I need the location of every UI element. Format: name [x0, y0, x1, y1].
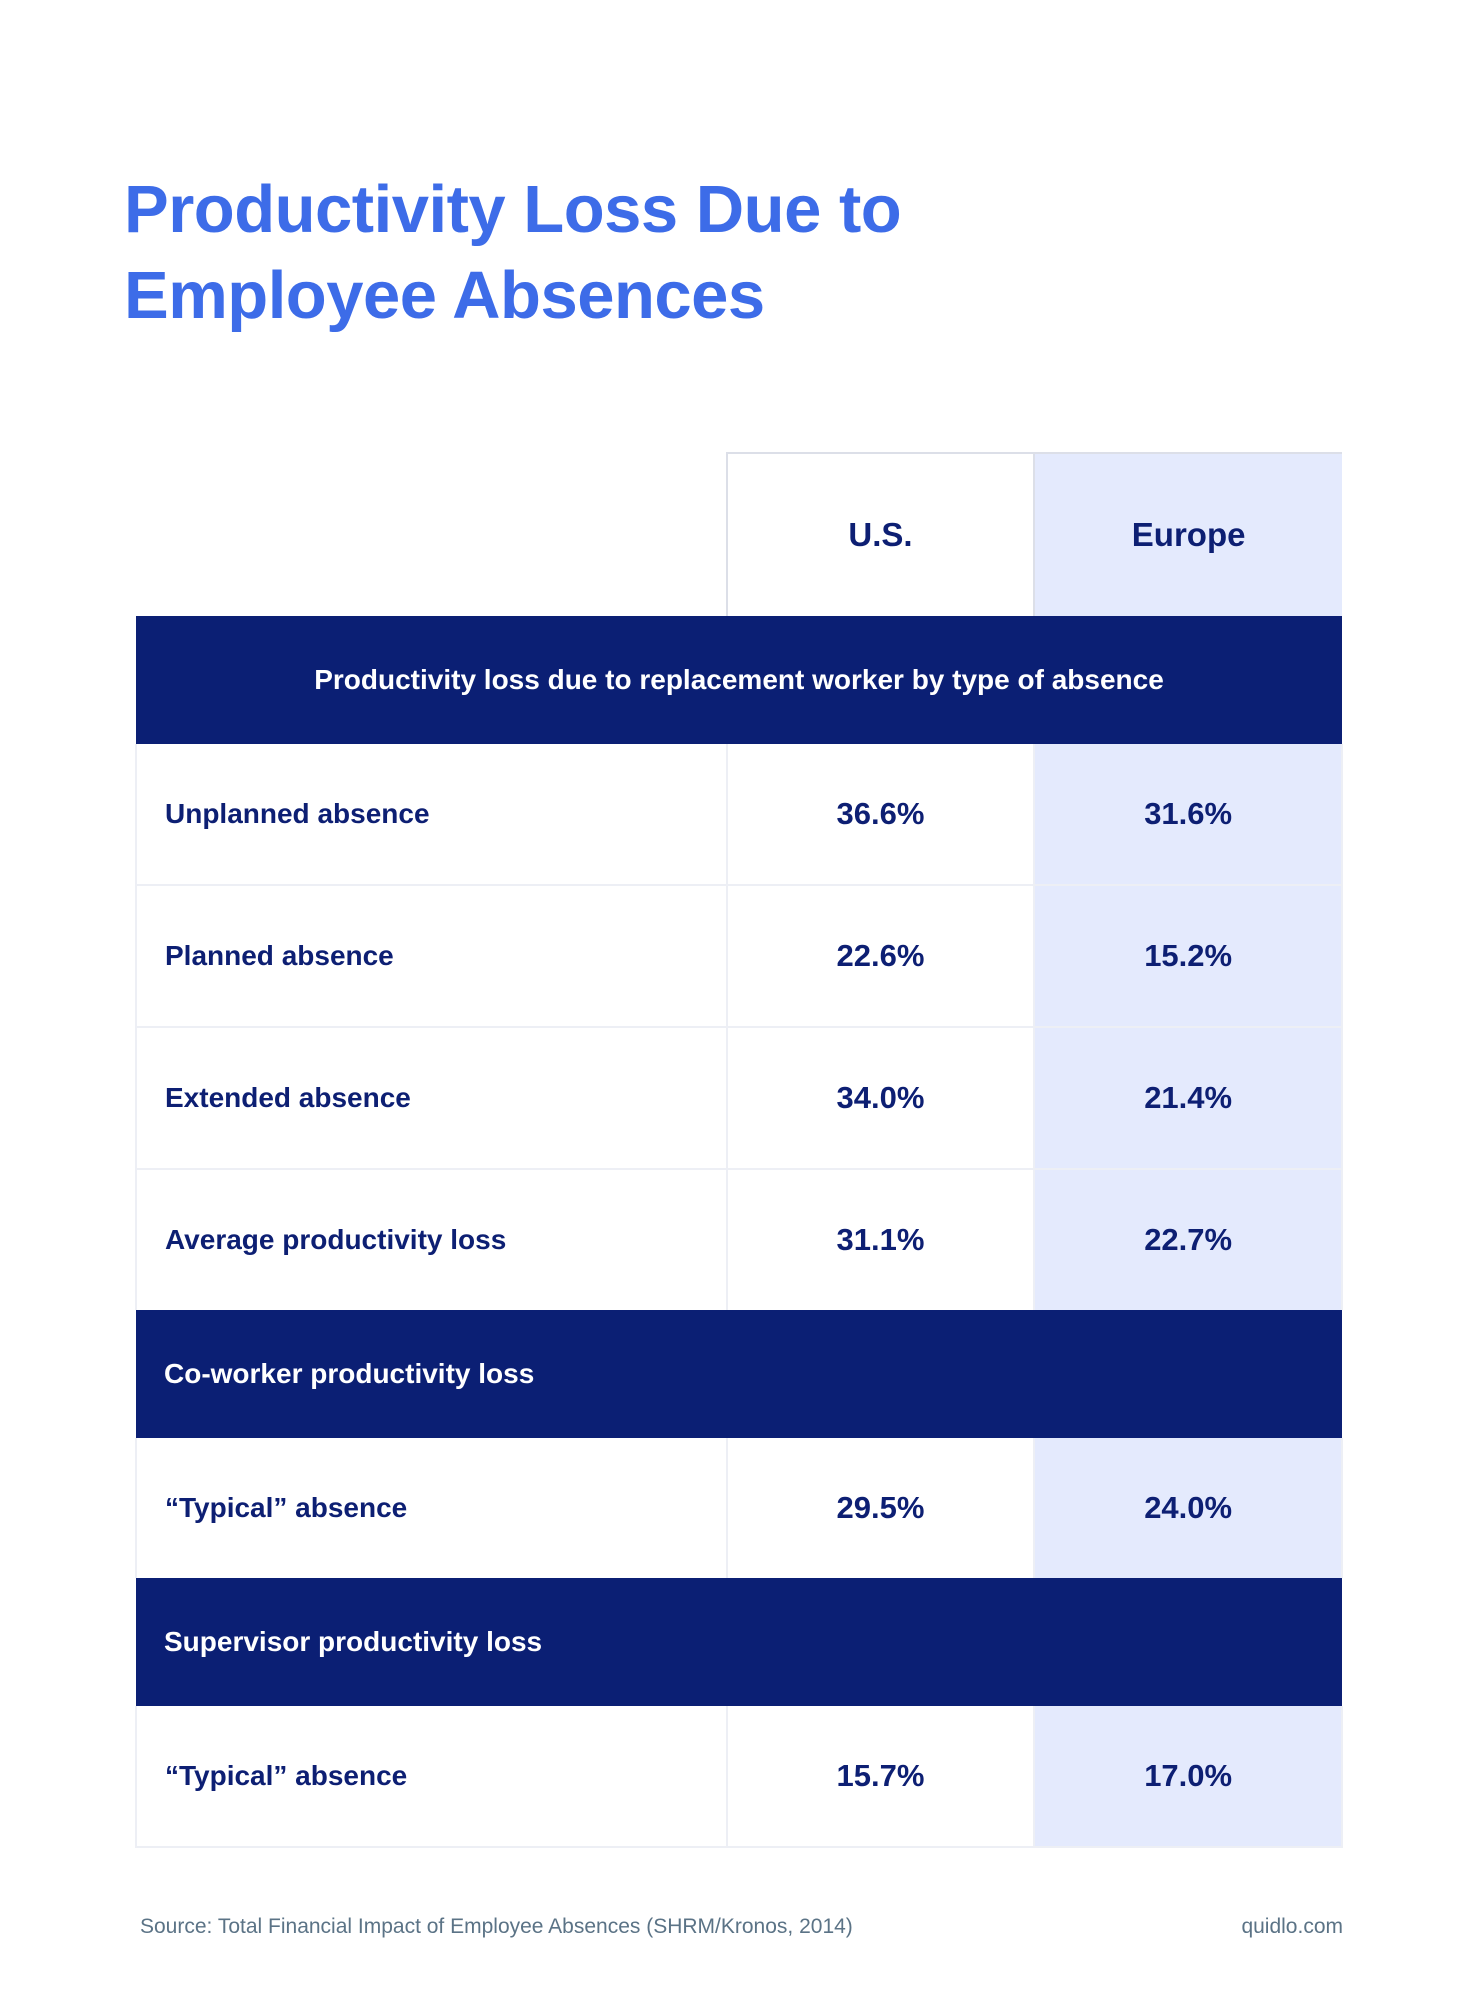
row-label: “Typical” absence: [136, 1438, 727, 1578]
footer-brand-link[interactable]: quidlo.com: [1241, 1915, 1343, 1939]
section-band-replacement-worker: Productivity loss due to replacement wor…: [136, 616, 1342, 744]
row-value-us: 22.6%: [727, 885, 1035, 1027]
productivity-table: U.S. Europe Productivity loss due to rep…: [135, 452, 1343, 1848]
table-row: “Typical” absence 15.7% 17.0%: [136, 1706, 1342, 1847]
infographic-page: Productivity Loss Due to Employee Absenc…: [0, 0, 1483, 1998]
table-header-row: U.S. Europe: [136, 453, 1342, 616]
table-row: Unplanned absence 36.6% 31.6%: [136, 744, 1342, 885]
section-band-supervisor: Supervisor productivity loss: [136, 1578, 1342, 1706]
row-label: “Typical” absence: [136, 1706, 727, 1847]
row-label: Planned absence: [136, 885, 727, 1027]
row-value-us: 31.1%: [727, 1169, 1035, 1310]
row-value-europe: 24.0%: [1034, 1438, 1342, 1578]
section-band-label: Supervisor productivity loss: [136, 1578, 1342, 1706]
row-value-europe: 17.0%: [1034, 1706, 1342, 1847]
section-band-coworker: Co-worker productivity loss: [136, 1310, 1342, 1438]
row-label: Unplanned absence: [136, 744, 727, 885]
header-cell-us: U.S.: [727, 453, 1035, 616]
row-value-europe: 22.7%: [1034, 1169, 1342, 1310]
table-row: Planned absence 22.6% 15.2%: [136, 885, 1342, 1027]
header-cell-europe: Europe: [1034, 453, 1342, 616]
page-title-line-1: Productivity Loss Due to: [124, 167, 1184, 253]
page-title: Productivity Loss Due to Employee Absenc…: [124, 167, 1184, 339]
header-cell-blank: [136, 453, 727, 616]
table-row: “Typical” absence 29.5% 24.0%: [136, 1438, 1342, 1578]
row-value-us: 15.7%: [727, 1706, 1035, 1847]
footer-source-text: Source: Total Financial Impact of Employ…: [140, 1915, 853, 1939]
section-band-label: Productivity loss due to replacement wor…: [136, 616, 1342, 744]
footer: Source: Total Financial Impact of Employ…: [140, 1915, 1343, 1939]
row-label: Extended absence: [136, 1027, 727, 1169]
row-label: Average productivity loss: [136, 1169, 727, 1310]
row-value-us: 29.5%: [727, 1438, 1035, 1578]
row-value-europe: 31.6%: [1034, 744, 1342, 885]
row-value-us: 34.0%: [727, 1027, 1035, 1169]
row-value-europe: 21.4%: [1034, 1027, 1342, 1169]
productivity-table-wrapper: U.S. Europe Productivity loss due to rep…: [135, 452, 1343, 1848]
section-band-label: Co-worker productivity loss: [136, 1310, 1342, 1438]
table-row: Average productivity loss 31.1% 22.7%: [136, 1169, 1342, 1310]
row-value-europe: 15.2%: [1034, 885, 1342, 1027]
row-value-us: 36.6%: [727, 744, 1035, 885]
page-title-line-2: Employee Absences: [124, 253, 1184, 339]
table-row: Extended absence 34.0% 21.4%: [136, 1027, 1342, 1169]
